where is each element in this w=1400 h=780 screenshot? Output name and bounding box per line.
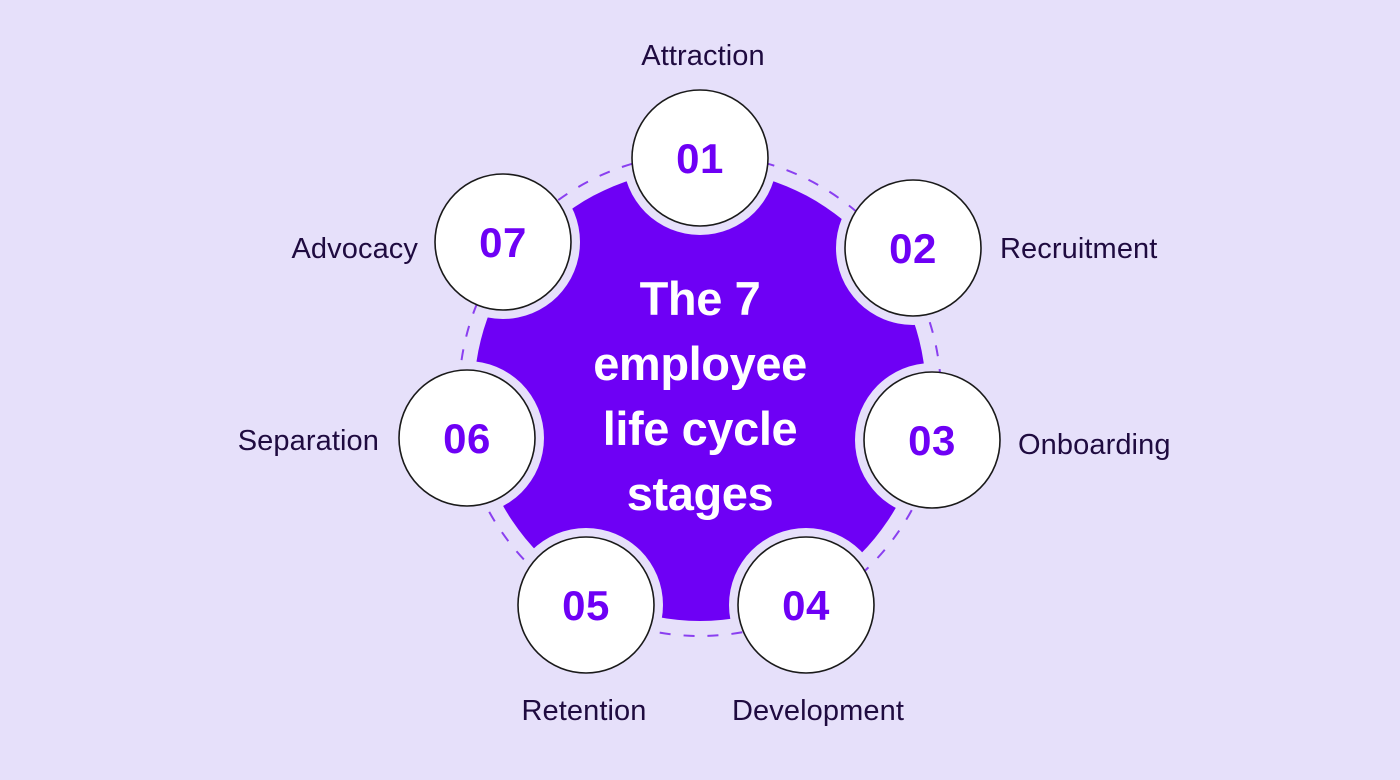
- center-title-line-1: The 7: [640, 272, 761, 325]
- stage-node-01[interactable]: 01: [632, 90, 768, 226]
- stage-number-05: 05: [562, 582, 610, 629]
- stage-number-03: 03: [908, 417, 956, 464]
- stage-label-advocacy: Advocacy: [291, 233, 418, 265]
- stage-label-onboarding: Onboarding: [1018, 429, 1171, 461]
- stage-label-separation: Separation: [238, 425, 379, 457]
- center-title-line-3: life cycle: [603, 402, 798, 455]
- stage-number-07: 07: [479, 219, 527, 266]
- stage-node-03[interactable]: 03: [864, 372, 1000, 508]
- stage-number-01: 01: [676, 135, 724, 182]
- center-title-line-2: employee: [593, 337, 807, 390]
- stage-label-attraction: Attraction: [641, 40, 765, 72]
- stage-label-development: Development: [732, 695, 904, 727]
- stage-node-02[interactable]: 02: [845, 180, 981, 316]
- stage-label-retention: Retention: [521, 695, 646, 727]
- cycle-diagram-svg: The 7 employee life cycle stages 01 Attr…: [0, 0, 1400, 780]
- stage-node-04[interactable]: 04: [738, 537, 874, 673]
- stage-number-02: 02: [889, 225, 937, 272]
- stage-node-07[interactable]: 07: [435, 174, 571, 310]
- stage-number-04: 04: [782, 582, 830, 629]
- center-title-line-4: stages: [627, 467, 774, 520]
- stage-number-06: 06: [443, 415, 491, 462]
- stage-node-05[interactable]: 05: [518, 537, 654, 673]
- stage-node-06[interactable]: 06: [399, 370, 535, 506]
- employee-lifecycle-infographic: The 7 employee life cycle stages 01 Attr…: [0, 0, 1400, 780]
- stage-label-recruitment: Recruitment: [1000, 233, 1157, 265]
